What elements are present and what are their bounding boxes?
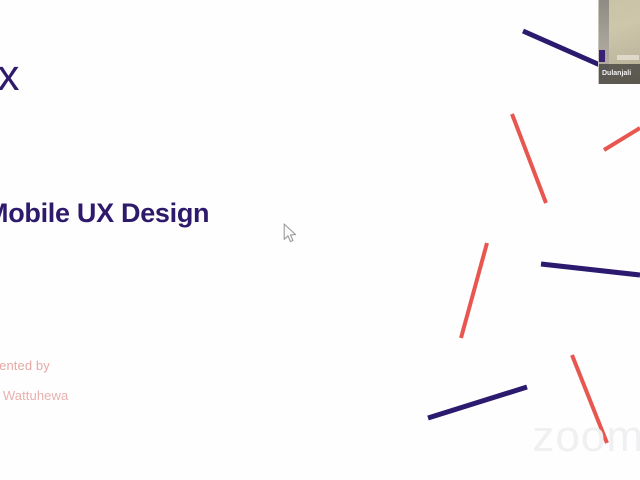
participant-video-tile[interactable]: Dulanjali: [598, 0, 640, 84]
presented-by-label: Presented by: [0, 355, 68, 377]
video-color-accent: [599, 50, 605, 62]
slide-credits: Presented by Nadi Wattuhewa: [0, 355, 68, 407]
shared-presentation-slide: 9x Mobile UX Design Presented by Nadi Wa…: [0, 0, 640, 480]
stroke-navy-bottom: [428, 387, 527, 418]
participant-name-bar: Dulanjali: [599, 64, 640, 84]
stroke-navy-top: [523, 31, 600, 65]
video-light-highlight: [617, 55, 639, 60]
zoom-watermark: zoom: [532, 412, 640, 462]
brand-logo: 9x: [0, 48, 70, 104]
stroke-navy-middle: [541, 264, 640, 275]
presenter-name: Nadi Wattuhewa: [0, 385, 68, 407]
stroke-red-upper-right: [604, 128, 640, 150]
zoom-screen-share-view: 9x Mobile UX Design Presented by Nadi Wa…: [0, 0, 640, 480]
decorative-strokes: [0, 0, 640, 480]
stroke-red-middle: [461, 243, 487, 338]
participant-name-label: Dulanjali: [599, 64, 640, 84]
stroke-red-upper-mid: [512, 114, 546, 203]
slide-title: Mobile UX Design: [0, 198, 209, 229]
brand-logo-text: 9x: [0, 48, 70, 104]
